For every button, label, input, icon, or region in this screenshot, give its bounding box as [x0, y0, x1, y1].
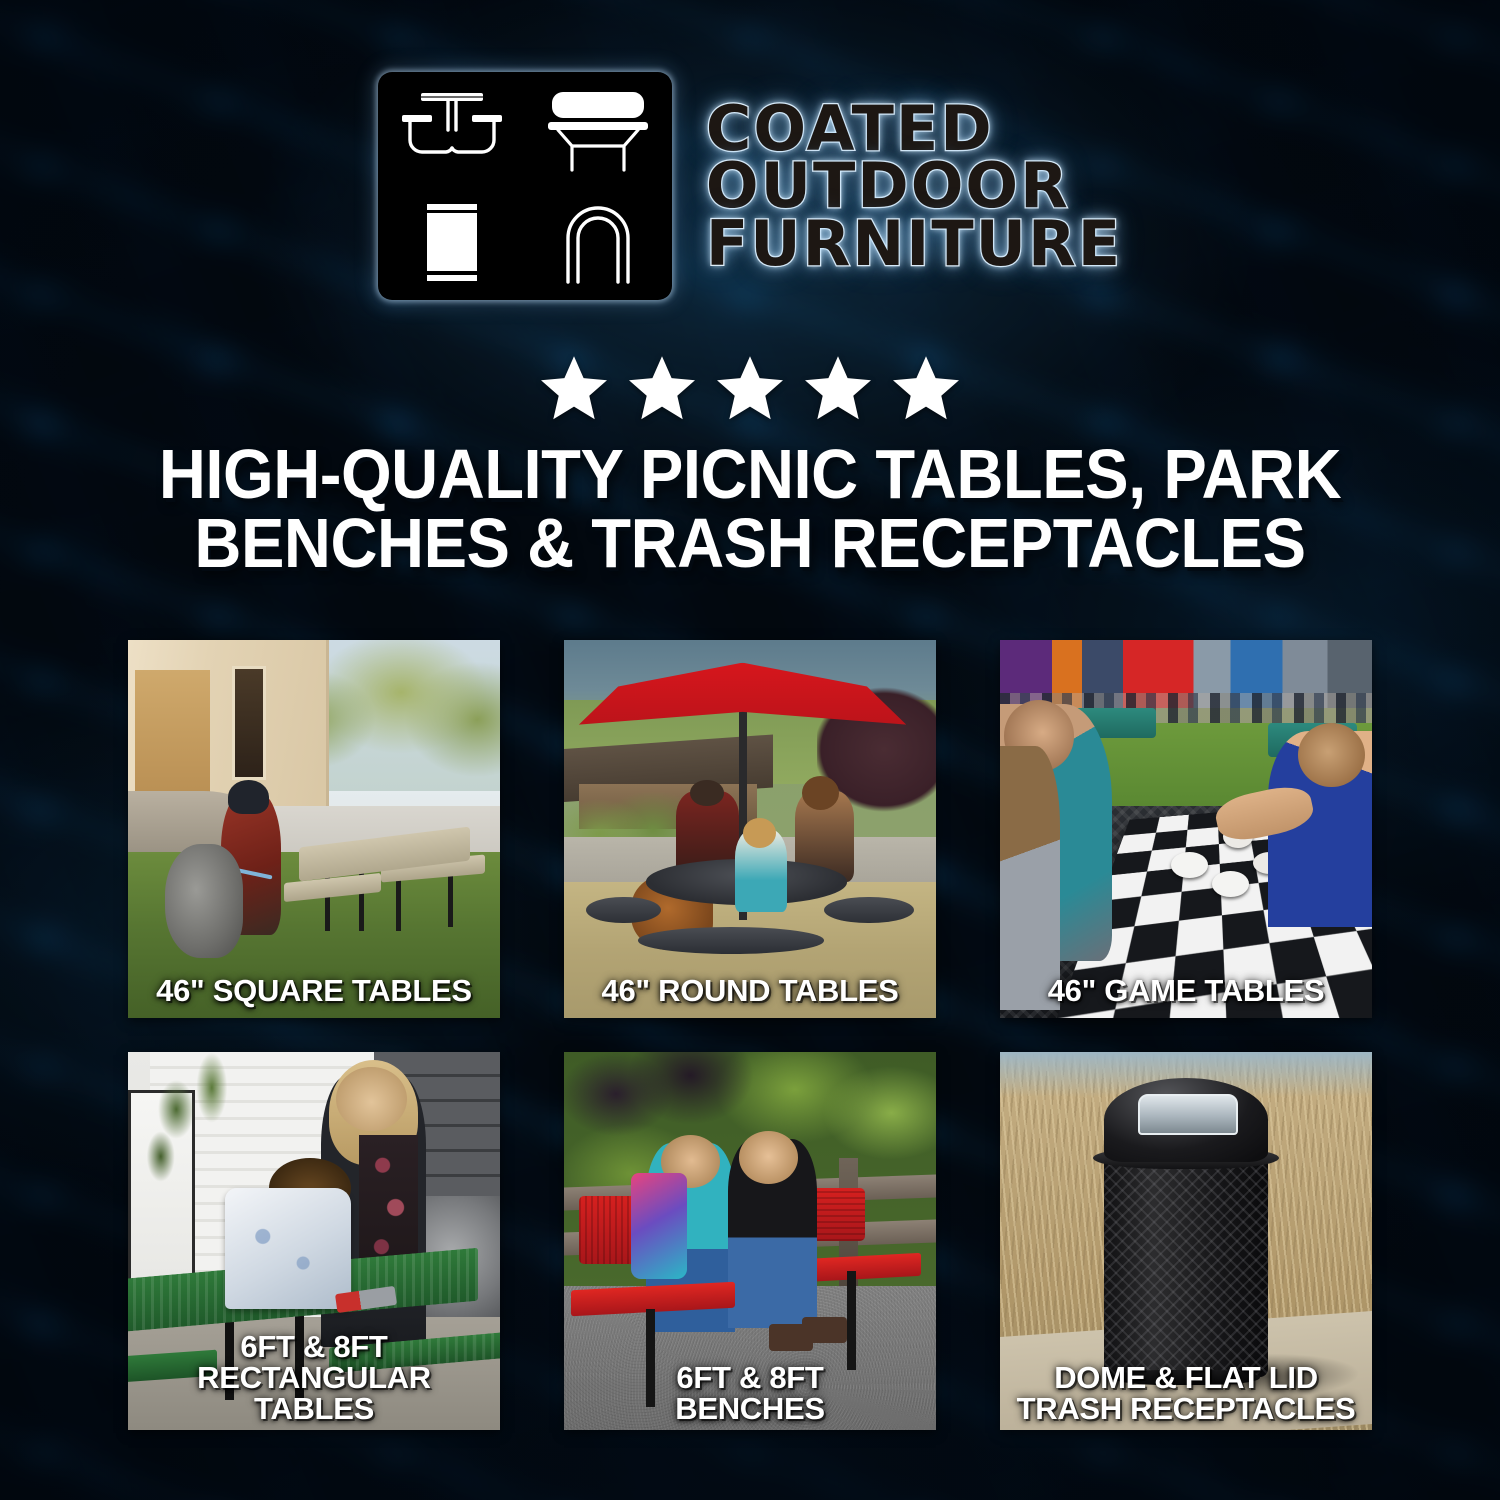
brand-name: COATED OUTDOOR FURNITURE — [706, 100, 1122, 273]
caption-line-1: 46" SQUARE TABLES — [134, 975, 494, 1006]
product-caption: 6FT & 8FT BENCHES — [570, 1362, 930, 1424]
brand-line-3: FURNITURE — [706, 215, 1122, 273]
product-caption: 6FT & 8FT RECTANGULAR TABLES — [134, 1331, 494, 1424]
star-rating — [0, 352, 1500, 424]
product-grid: 46" SQUARE TABLES — [128, 640, 1372, 1430]
product-photo-round-tables — [564, 640, 936, 1018]
product-tile-square-tables[interactable]: 46" SQUARE TABLES — [128, 640, 500, 1018]
caption-line-1: 46" GAME TABLES — [1006, 975, 1366, 1006]
bench-icon — [526, 75, 669, 185]
product-photo-game-tables — [1000, 640, 1372, 1018]
product-caption: DOME & FLAT LID TRASH RECEPTACLES — [1006, 1362, 1366, 1424]
caption-line-1: DOME & FLAT LID — [1006, 1362, 1366, 1393]
product-tile-game-tables[interactable]: 46" GAME TABLES — [1000, 640, 1372, 1018]
brand-logo: COATED OUTDOOR FURNITURE — [0, 72, 1500, 300]
headline-line-2: BENCHES & TRASH RECEPTACLES — [108, 509, 1391, 578]
star-icon — [625, 352, 699, 424]
product-tile-rectangular-tables[interactable]: 6FT & 8FT RECTANGULAR TABLES — [128, 1052, 500, 1430]
page-headline: HIGH-QUALITY PICNIC TABLES, PARK BENCHES… — [108, 440, 1391, 577]
promo-banner: COATED OUTDOOR FURNITURE HIGH-QUALITY PI… — [0, 0, 1500, 1500]
caption-line-1: 6FT & 8FT — [134, 1331, 494, 1362]
product-caption: 46" GAME TABLES — [1006, 975, 1366, 1006]
star-icon — [889, 352, 963, 424]
product-tile-trash-receptacles[interactable]: DOME & FLAT LID TRASH RECEPTACLES — [1000, 1052, 1372, 1430]
product-tile-round-tables[interactable]: 46" ROUND TABLES — [564, 640, 936, 1018]
headline-line-1: HIGH-QUALITY PICNIC TABLES, PARK — [108, 440, 1391, 509]
caption-line-2: RECTANGULAR TABLES — [134, 1362, 494, 1424]
star-icon — [537, 352, 611, 424]
star-icon — [801, 352, 875, 424]
caption-line-2: TRASH RECEPTACLES — [1006, 1393, 1366, 1424]
trash-receptacle-icon — [381, 188, 524, 298]
product-caption: 46" SQUARE TABLES — [134, 975, 494, 1006]
caption-line-1: 46" ROUND TABLES — [570, 975, 930, 1006]
bike-rack-arch-icon — [526, 188, 669, 298]
caption-line-2: BENCHES — [570, 1393, 930, 1424]
product-tile-benches[interactable]: 6FT & 8FT BENCHES — [564, 1052, 936, 1430]
caption-line-1: 6FT & 8FT — [570, 1362, 930, 1393]
picnic-table-icon — [381, 75, 524, 185]
logo-icon-grid — [378, 72, 672, 300]
star-icon — [713, 352, 787, 424]
product-caption: 46" ROUND TABLES — [570, 975, 930, 1006]
product-photo-square-tables — [128, 640, 500, 1018]
